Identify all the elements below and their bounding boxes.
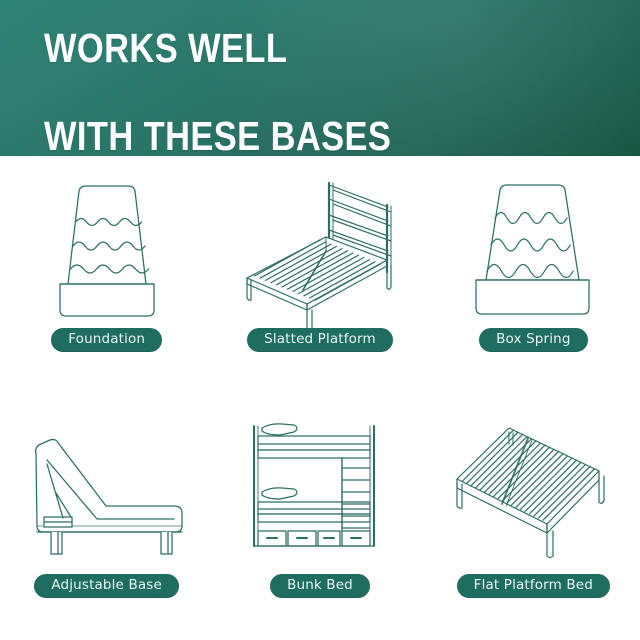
base-label-adjustable-base: Adjustable Base	[34, 574, 179, 598]
slatted-platform-bed-icon	[230, 172, 410, 322]
bunk-bed-icon	[230, 414, 410, 564]
base-card-box-spring[interactable]: Box Spring	[427, 156, 640, 398]
base-label-flat-platform-bed: Flat Platform Bed	[457, 574, 610, 598]
infographic-page: WORKS WELL WITH THESE BASES	[0, 0, 640, 640]
box-spring-icon	[443, 172, 623, 322]
page-title: WORKS WELL WITH THESE BASES	[44, 26, 391, 156]
title-line-2: WITH THESE BASES	[44, 114, 391, 156]
base-card-adjustable-base[interactable]: Adjustable Base	[0, 398, 213, 640]
base-label-foundation: Foundation	[51, 328, 162, 352]
base-card-flat-platform-bed[interactable]: Flat Platform Bed	[427, 398, 640, 640]
title-line-1: WORKS WELL	[44, 26, 391, 70]
base-card-slatted-platform[interactable]: Slatted Platform	[213, 156, 426, 398]
adjustable-base-icon	[17, 414, 197, 564]
flat-platform-bed-icon	[443, 414, 623, 564]
bases-grid: Foundation	[0, 156, 640, 640]
mattress-foundation-icon	[17, 172, 197, 322]
base-label-slatted-platform: Slatted Platform	[247, 328, 393, 352]
header-banner: WORKS WELL WITH THESE BASES	[0, 0, 640, 156]
base-label-bunk-bed: Bunk Bed	[270, 574, 370, 598]
base-card-foundation[interactable]: Foundation	[0, 156, 213, 398]
base-card-bunk-bed[interactable]: Bunk Bed	[213, 398, 426, 640]
base-label-box-spring: Box Spring	[479, 328, 587, 352]
